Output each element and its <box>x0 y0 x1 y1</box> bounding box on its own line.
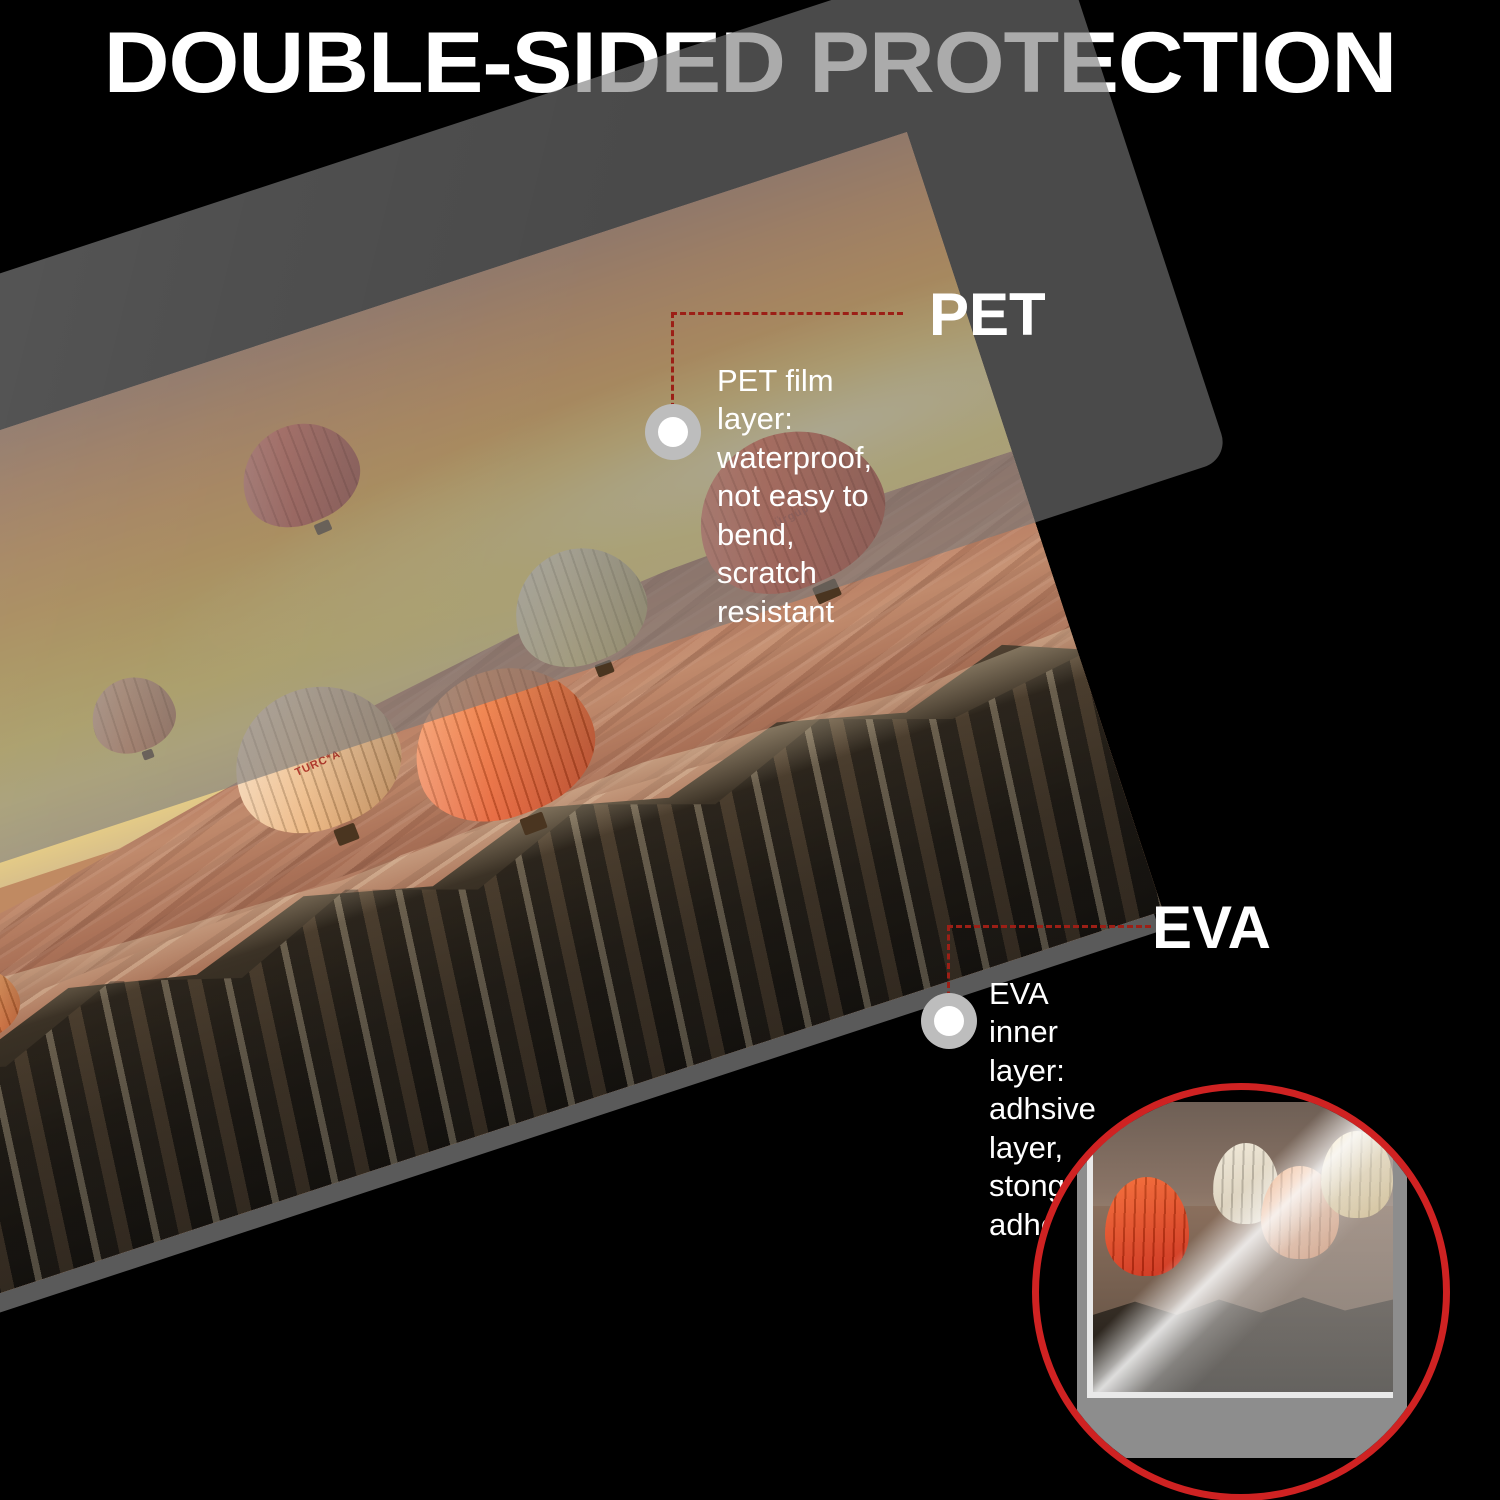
pet-marker-icon <box>645 404 701 460</box>
corner-zoom-inset <box>1032 1083 1450 1500</box>
inset-photo <box>1087 1102 1393 1398</box>
eva-label: EVA <box>1152 898 1271 958</box>
eva-leader-horizontal <box>947 925 1151 928</box>
eva-marker-icon <box>921 993 977 1049</box>
infographic-canvas: DOUBLE-SIDED PROTECTION TURC*AÜrgüp <box>0 0 1500 1500</box>
pet-leader-vertical <box>671 312 674 418</box>
pet-leader-horizontal <box>671 312 903 315</box>
pet-label: PET <box>929 285 1046 345</box>
pet-description: PET film layer: waterproof, not easy to … <box>717 362 872 631</box>
